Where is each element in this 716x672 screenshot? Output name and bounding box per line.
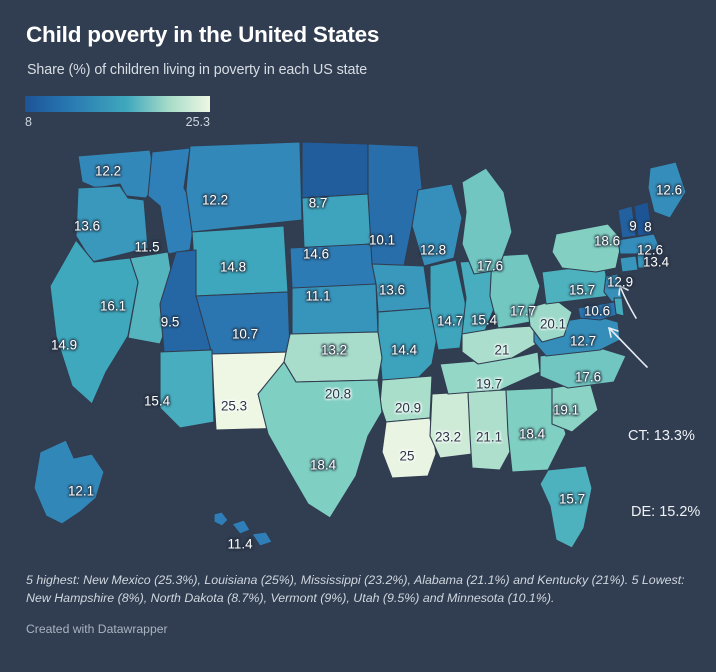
ct-callout-label: CT: 13.3%: [628, 428, 695, 444]
state-ms[interactable]: [430, 392, 472, 458]
state-wi[interactable]: [412, 184, 462, 266]
us-map-svg: [0, 136, 716, 564]
state-ak[interactable]: [34, 440, 104, 524]
state-de[interactable]: [614, 298, 624, 316]
state-il[interactable]: [430, 260, 466, 350]
state-sc[interactable]: [552, 382, 598, 432]
state-ct[interactable]: [620, 256, 638, 272]
state-mt[interactable]: [186, 142, 302, 232]
state-md[interactable]: [578, 302, 620, 320]
state-fl[interactable]: [540, 466, 592, 548]
state-mn[interactable]: [368, 144, 422, 266]
state-ks[interactable]: [292, 284, 378, 334]
state-ok[interactable]: [284, 332, 382, 382]
state-al[interactable]: [468, 390, 512, 470]
legend-max-label: 25.3: [25, 115, 210, 129]
chart-subtitle: Share (%) of children living in poverty …: [27, 62, 367, 78]
state-ny[interactable]: [552, 224, 622, 272]
footnote: 5 highest: New Mexico (25.3%), Louisiana…: [26, 572, 698, 607]
state-nh[interactable]: [634, 202, 652, 236]
page-title: Child poverty in the United States: [26, 22, 379, 48]
credit-line: Created with Datawrapper: [26, 622, 168, 636]
choropleth-map-figure: Child poverty in the United States Share…: [0, 0, 716, 672]
state-la[interactable]: [382, 418, 436, 478]
state-co[interactable]: [196, 292, 290, 354]
state-nd[interactable]: [302, 142, 368, 198]
state-ar[interactable]: [380, 376, 432, 422]
state-ne[interactable]: [290, 244, 376, 290]
state-ia[interactable]: [372, 264, 430, 312]
state-sd[interactable]: [302, 194, 372, 248]
color-legend-gradient: [25, 96, 210, 112]
state-ri[interactable]: [637, 254, 645, 268]
state-ca[interactable]: [50, 240, 138, 404]
state-vt[interactable]: [618, 206, 636, 238]
state-me[interactable]: [648, 162, 686, 218]
state-az[interactable]: [160, 350, 214, 428]
state-mo[interactable]: [378, 308, 438, 380]
us-map: 12.213.611.512.214.88.714.611.110.112.81…: [0, 136, 716, 564]
de-callout-label: DE: 15.2%: [631, 504, 700, 520]
state-tx[interactable]: [258, 362, 382, 518]
state-wy[interactable]: [192, 226, 288, 296]
state-hi[interactable]: [214, 512, 272, 546]
